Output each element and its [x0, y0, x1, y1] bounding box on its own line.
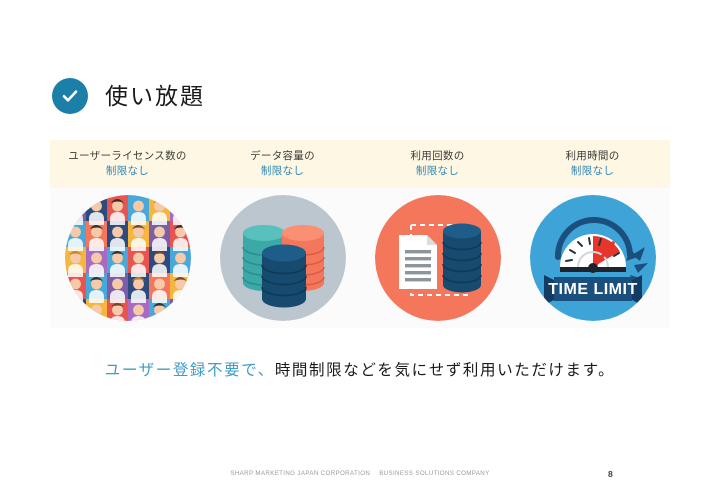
- feature-label-2: 利用回数の 制限なし: [360, 149, 515, 179]
- feature-label-value-3: 制限なし: [515, 164, 670, 179]
- footer-company-line-1: SHARP MARKETING JAPAN CORPORATION: [230, 470, 370, 477]
- feature-label-title-0: ユーザーライセンス数の: [50, 149, 205, 164]
- feature-label-value-1: 制限なし: [205, 164, 360, 179]
- feature-label-title-3: 利用時間の: [515, 149, 670, 164]
- page-title: 使い放題: [105, 85, 205, 108]
- time-limit-gauge-circle-icon: TIME LIMIT: [530, 195, 656, 321]
- slide-caption: ユーザー登録不要で、時間制限などを気にせず利用いただけます。: [0, 358, 720, 380]
- caption-accent-text: ユーザー登録不要で、: [105, 362, 275, 379]
- illustration-grid: TIME LIMIT: [50, 188, 670, 328]
- document-database-sync-circle-icon: [375, 195, 501, 321]
- feature-label-value-0: 制限なし: [50, 164, 205, 179]
- database-stacks-circle-icon: [220, 195, 346, 321]
- check-circle-icon: [52, 78, 88, 114]
- slide-header: 使い放題: [52, 78, 205, 114]
- people-crowd-circle-icon: [65, 195, 191, 321]
- feature-label-1: データ容量の 制限なし: [205, 149, 360, 179]
- feature-label-grid: ユーザーライセンス数の 制限なし データ容量の 制限なし 利用回数の 制限なし …: [50, 140, 670, 188]
- feature-label-value-2: 制限なし: [360, 164, 515, 179]
- page-number: 8: [608, 469, 613, 479]
- feature-label-3: 利用時間の 制限なし: [515, 149, 670, 179]
- feature-label-0: ユーザーライセンス数の 制限なし: [50, 149, 205, 179]
- caption-plain-text: 時間制限などを気にせず利用いただけます。: [275, 362, 615, 379]
- footer-company-line-2: BUSINESS SOLUTIONS COMPANY: [379, 470, 489, 477]
- time-limit-banner-text: TIME LIMIT: [548, 281, 637, 298]
- feature-label-title-1: データ容量の: [205, 149, 360, 164]
- feature-label-title-2: 利用回数の: [360, 149, 515, 164]
